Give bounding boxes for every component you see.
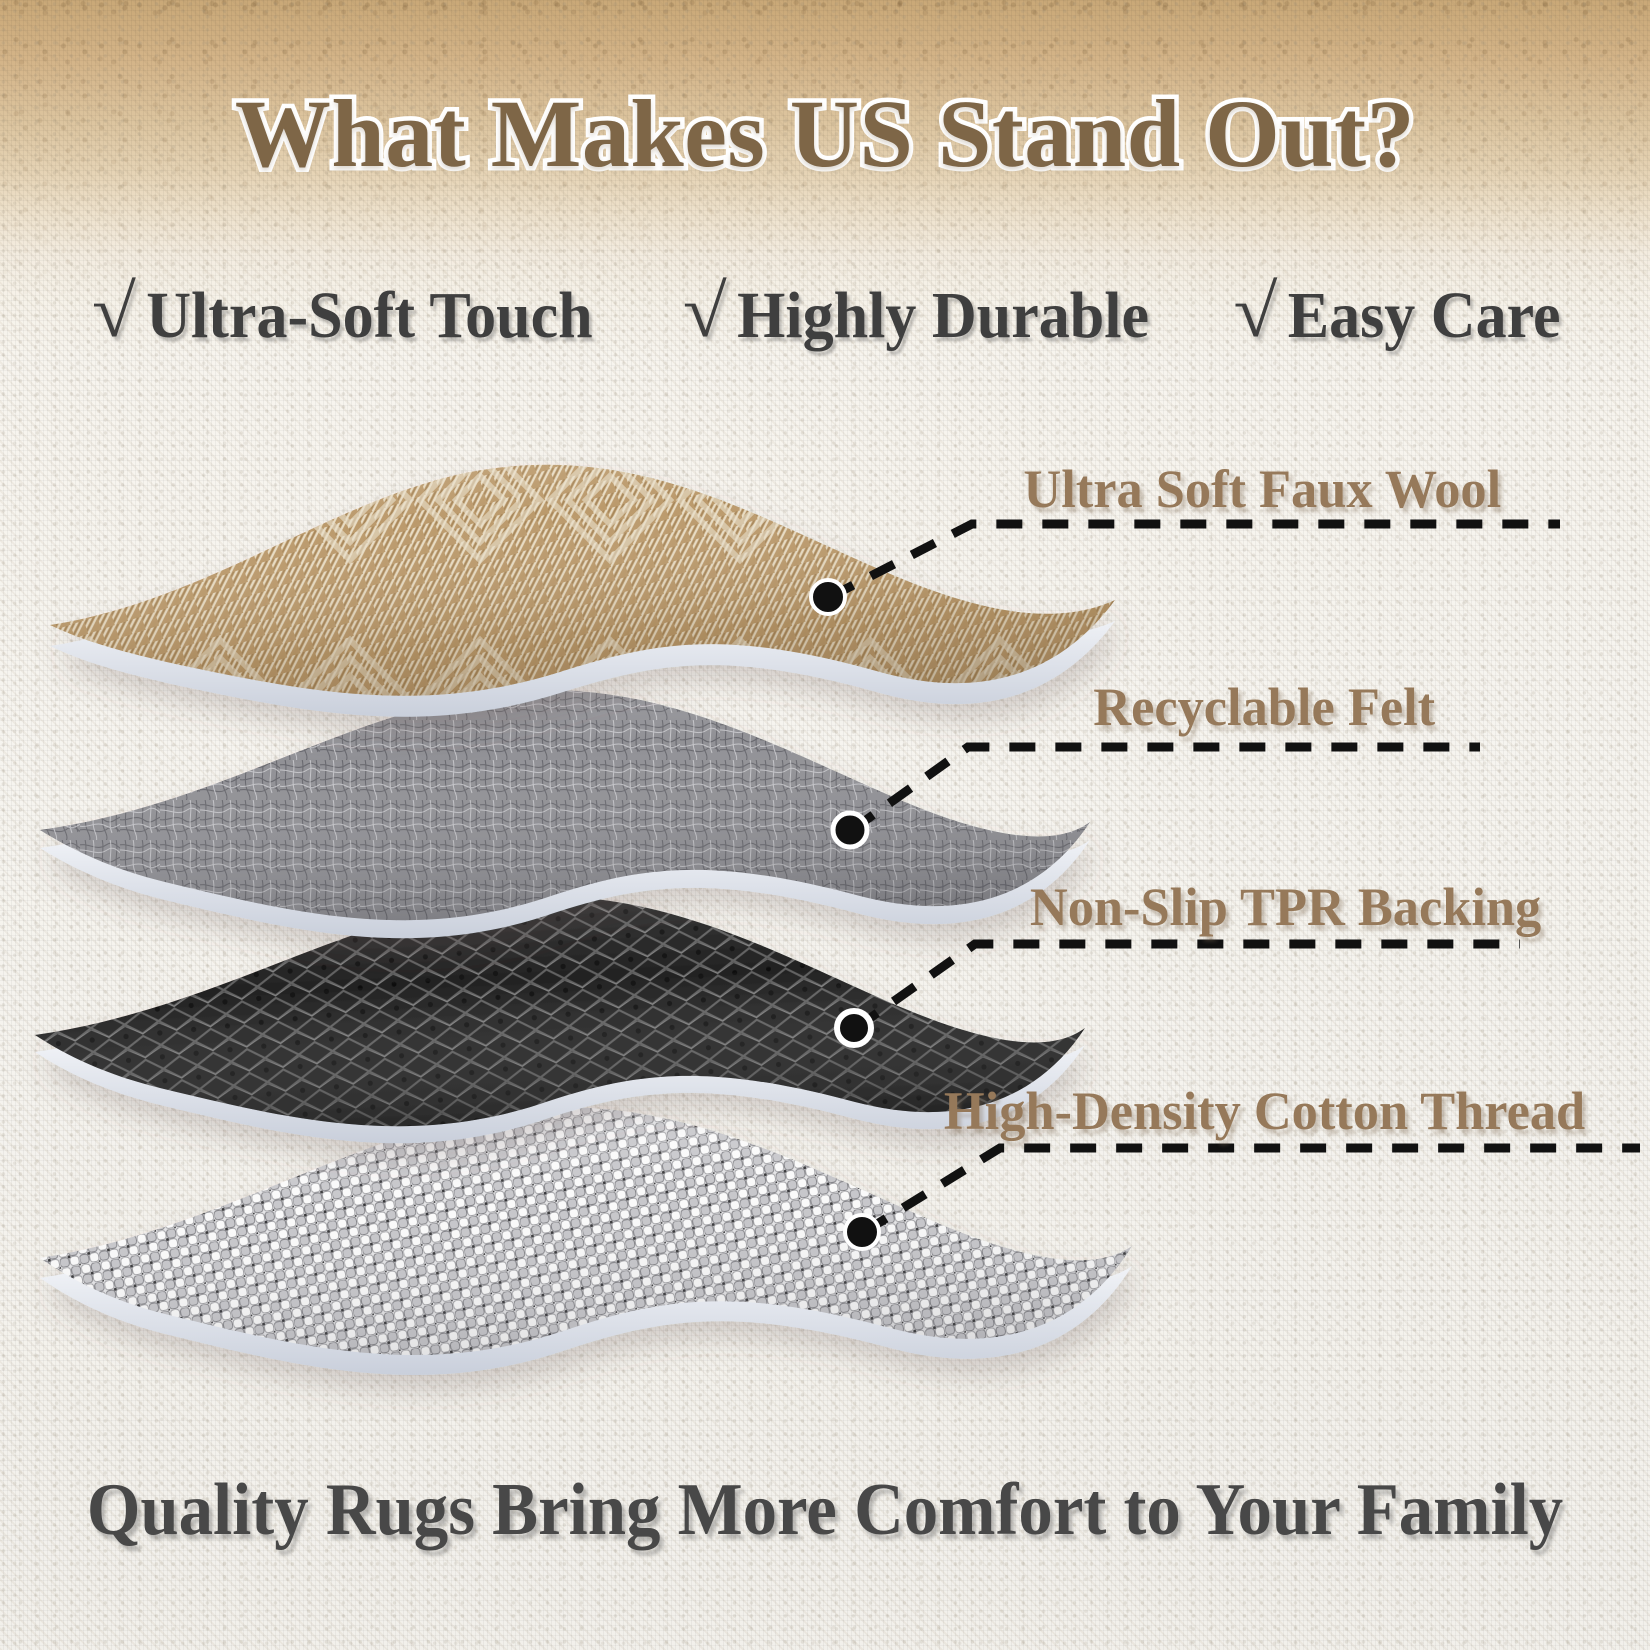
layer-label-tpr-backing: Non-Slip TPR Backing <box>1030 876 1541 938</box>
layer-label-cotton-thread: High-Density Cotton Thread <box>944 1080 1585 1142</box>
infographic-poster: What Makes US Stand Out? √ Ultra-Soft To… <box>0 0 1650 1650</box>
footer-tagline: Quality Rugs Bring More Comfort to Your … <box>58 1468 1593 1553</box>
layer-label-faux-wool: Ultra Soft Faux Wool <box>1023 458 1501 520</box>
layer-faux-wool <box>0 420 1200 740</box>
layer-label-recyclable-felt: Recyclable Felt <box>1093 676 1435 738</box>
rug-layer-diagram <box>0 0 1650 1650</box>
